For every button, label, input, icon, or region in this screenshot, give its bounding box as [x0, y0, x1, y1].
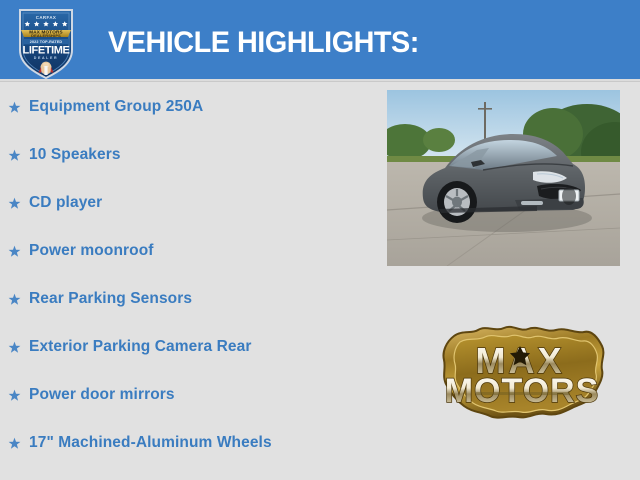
list-item: CD player	[0, 186, 380, 234]
list-item-label: Equipment Group 250A	[29, 90, 203, 117]
star-icon	[8, 245, 21, 258]
svg-text:LIFETIME: LIFETIME	[23, 45, 70, 57]
list-item-label: Rear Parking Sensors	[29, 282, 192, 309]
svg-text:2022 TOP-RATED: 2022 TOP-RATED	[30, 40, 63, 44]
list-item-label: 17" Machined-Aluminum Wheels	[29, 426, 272, 453]
header-divider	[0, 79, 640, 82]
list-item: 10 Speakers	[0, 138, 380, 186]
star-icon	[8, 197, 21, 210]
list-item-label: 10 Speakers	[29, 138, 121, 165]
vehicle-photo	[387, 90, 620, 266]
svg-text:MOTORS: MOTORS	[445, 372, 600, 410]
list-item-label: Power moonroof	[29, 234, 154, 261]
list-item: Power door mirrors	[0, 378, 380, 426]
max-motors-logo: MAX MOTORS	[432, 320, 612, 426]
list-item-label: Exterior Parking Camera Rear	[29, 330, 252, 357]
star-icon	[8, 101, 21, 114]
svg-text:DEALER: DEALER	[34, 56, 58, 60]
star-icon	[8, 149, 21, 162]
list-item-label: CD player	[29, 186, 102, 213]
star-icon	[8, 389, 21, 402]
svg-text:DEALERSHIPS: DEALERSHIPS	[31, 33, 61, 38]
star-icon	[8, 437, 21, 450]
vehicle-highlights-list: Equipment Group 250A 10 Speakers CD play…	[0, 90, 380, 474]
star-icon	[8, 341, 21, 354]
list-item: 17" Machined-Aluminum Wheels	[0, 426, 380, 474]
star-icon	[8, 293, 21, 306]
list-item: Equipment Group 250A	[0, 90, 380, 138]
list-item: Rear Parking Sensors	[0, 282, 380, 330]
svg-text:CARFAX: CARFAX	[36, 15, 56, 20]
page-title-text: VEHICLE HIGHLIGHTS:	[108, 26, 419, 60]
list-item: Exterior Parking Camera Rear	[0, 330, 380, 378]
list-item: Power moonroof	[0, 234, 380, 282]
carfax-lifetime-dealer-badge: CARFAX MAX MOTORS DEALERSHIPS 2022 TOP-R…	[14, 6, 78, 80]
list-item-label: Power door mirrors	[29, 378, 175, 405]
